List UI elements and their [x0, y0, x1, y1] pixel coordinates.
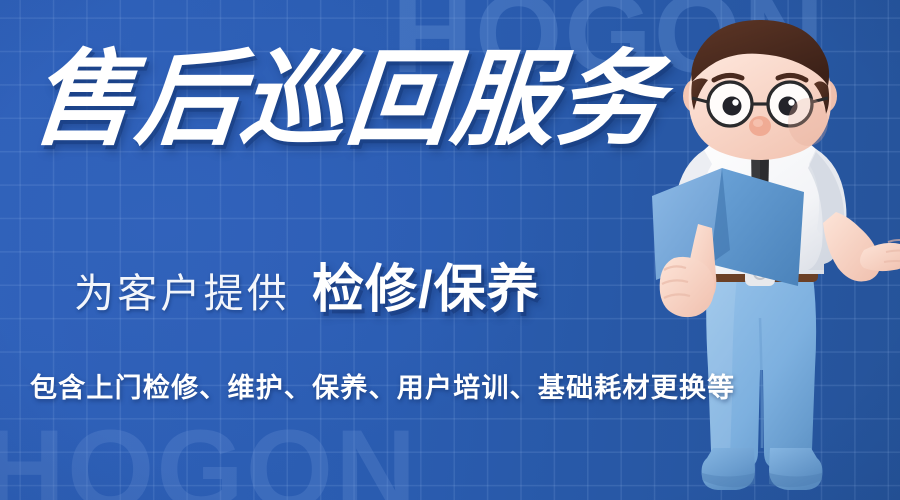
banner-root: HOGON HOGON [0, 0, 900, 500]
background-vignette [0, 0, 900, 500]
